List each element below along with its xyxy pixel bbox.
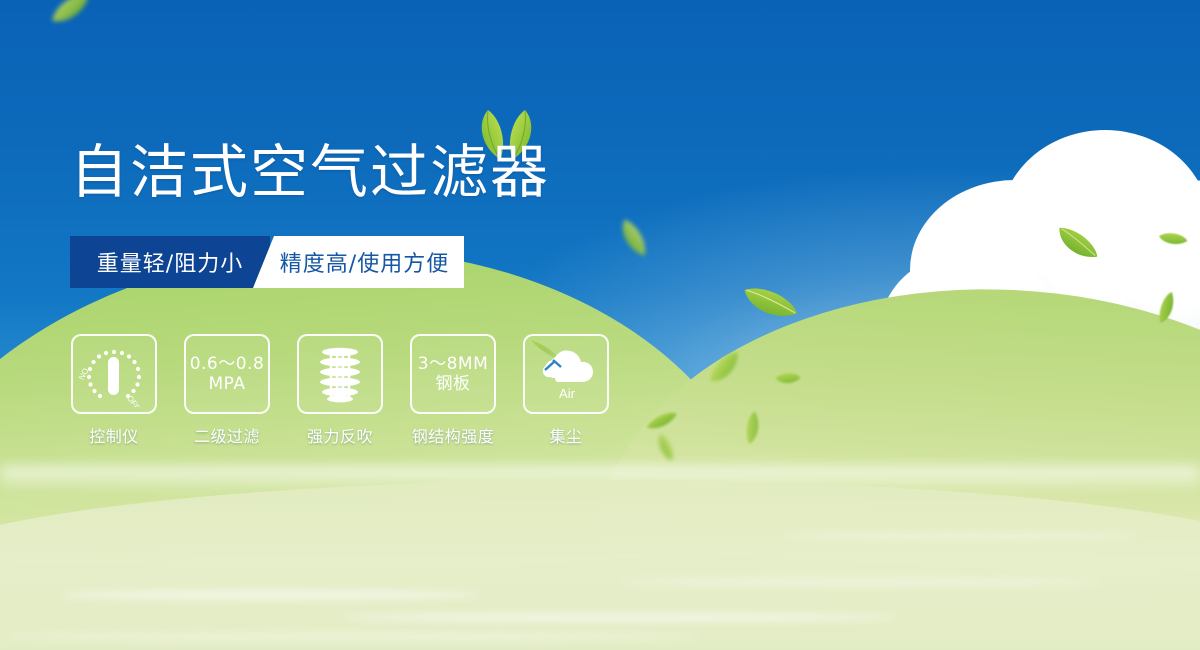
pressure-text-icon: 0.6～0.8 MPA	[190, 354, 265, 394]
grass-streak	[0, 632, 700, 642]
grass-streak	[620, 578, 1100, 586]
leaf-icon	[618, 215, 649, 261]
feature-icon-box: NO OFF	[71, 334, 157, 414]
feature-icon-box: Air	[523, 334, 609, 414]
feature-item-secondary-filter[interactable]: 0.6～0.8 MPA 二级过滤	[183, 334, 271, 447]
grass-streak	[60, 590, 480, 600]
leaf-icon	[1052, 218, 1100, 271]
feature-list: NO OFF 控制仪 0.6～0.8 MPA 二级过滤	[70, 334, 610, 447]
feature-icon-box	[297, 334, 383, 414]
svg-text:Air: Air	[559, 386, 576, 401]
cloud-air-icon: Air	[529, 338, 605, 410]
subtitle-right-panel: 精度高/使用方便	[253, 236, 464, 288]
leaf-icon	[46, 0, 97, 28]
page-title: 自洁式空气过滤器	[70, 143, 550, 201]
feature-label: 控制仪	[89, 423, 139, 447]
grass-field	[0, 470, 1200, 650]
feature-icon-box: 3～8MM 钢板	[410, 334, 496, 414]
feature-label: 集尘	[549, 423, 582, 447]
grass-streak	[340, 613, 900, 622]
feature-label: 强力反吹	[307, 423, 373, 447]
subtitle-bar: 重量轻/阻力小 精度高/使用方便	[70, 236, 464, 288]
feature-item-backblow[interactable]: 强力反吹	[296, 334, 384, 447]
feature-label: 钢结构强度	[412, 423, 495, 447]
grass-foreground	[0, 480, 1200, 650]
feature-icon-box: 0.6～0.8 MPA	[184, 334, 270, 414]
subtitle-left-text: 重量轻/阻力小	[97, 246, 243, 278]
subtitle-left-panel: 重量轻/阻力小	[70, 236, 270, 288]
feature-item-steel-strength[interactable]: 3～8MM 钢板 钢结构强度	[409, 334, 497, 447]
leaf-icon	[1156, 227, 1189, 252]
promo-banner: 自洁式空气过滤器 重量轻/阻力小 精度高/使用方便	[0, 0, 1200, 650]
feature-item-dust-collection[interactable]: Air 集尘	[522, 334, 610, 447]
filter-cartridge-icon	[312, 343, 368, 405]
gauge-icon: NO OFF	[78, 341, 150, 407]
feature-label: 二级过滤	[194, 423, 260, 447]
feature-item-controller[interactable]: NO OFF 控制仪	[70, 334, 158, 447]
steel-plate-text-icon: 3～8MM 钢板	[418, 354, 488, 394]
grass-streak	[780, 532, 1140, 540]
subtitle-right-text: 精度高/使用方便	[280, 246, 449, 278]
